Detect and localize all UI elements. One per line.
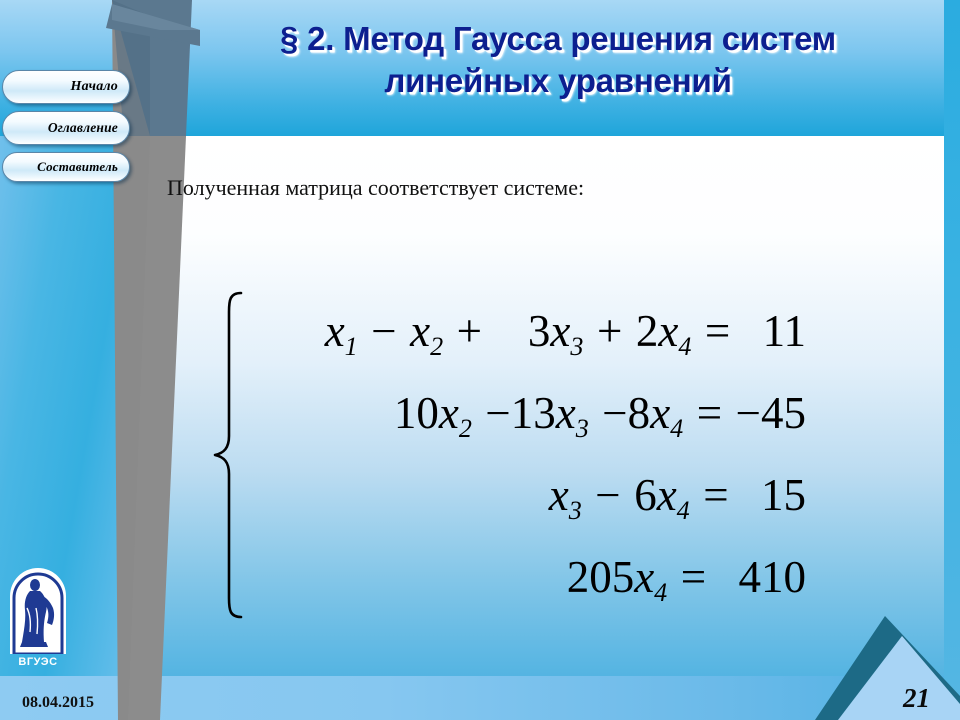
statue-glyph-icon — [10, 568, 66, 654]
equation-system: x1−x2+3x3+2x4=11 10x2−13x3−8x4=−45 x3−6x… — [208, 290, 828, 620]
equation-row-4: 205x4=410 — [246, 536, 828, 618]
nav-button-oglavlenie[interactable]: Оглавление — [2, 111, 130, 145]
equation-row-1: x1−x2+3x3+2x4=11 — [246, 290, 828, 372]
lead-sentence: Полученная матрица соответствует системе… — [167, 175, 584, 201]
slide-canvas: § 2. Метод Гаусса решения систем линейны… — [0, 0, 960, 720]
navigation-buttons: Начало Оглавление Составитель — [2, 70, 134, 182]
equation-3-content: x3−6x4=15 — [549, 469, 806, 521]
logo-caption: ВГУЭС — [10, 656, 66, 668]
equation-row-3: x3−6x4=15 — [246, 454, 828, 536]
vgues-statue-arch-icon — [10, 568, 66, 654]
nav-button-oglavlenie-label: Оглавление — [48, 120, 118, 136]
equation-4-content: 205x4=410 — [567, 551, 806, 603]
page-title: § 2. Метод Гаусса решения систем линейны… — [178, 18, 938, 101]
page-number: 21 — [903, 683, 930, 714]
equation-list: x1−x2+3x3+2x4=11 10x2−13x3−8x4=−45 x3−6x… — [246, 290, 828, 618]
nav-button-nachalo[interactable]: Начало — [2, 70, 130, 104]
slide-date: 08.04.2015 — [22, 694, 94, 712]
equation-row-2: 10x2−13x3−8x4=−45 — [246, 372, 828, 454]
university-logo: ВГУЭС — [10, 568, 68, 678]
nav-button-sostavitel-label: Составитель — [37, 159, 118, 175]
page-title-line-2: линейных уравнений — [178, 60, 938, 102]
nav-button-nachalo-label: Начало — [71, 79, 118, 95]
nav-button-sostavitel[interactable]: Составитель — [2, 152, 130, 182]
equation-1-content: x1−x2+3x3+2x4=11 — [325, 305, 806, 357]
page-title-line-1: § 2. Метод Гаусса решения систем — [178, 18, 938, 60]
equation-2-content: 10x2−13x3−8x4=−45 — [394, 387, 806, 439]
